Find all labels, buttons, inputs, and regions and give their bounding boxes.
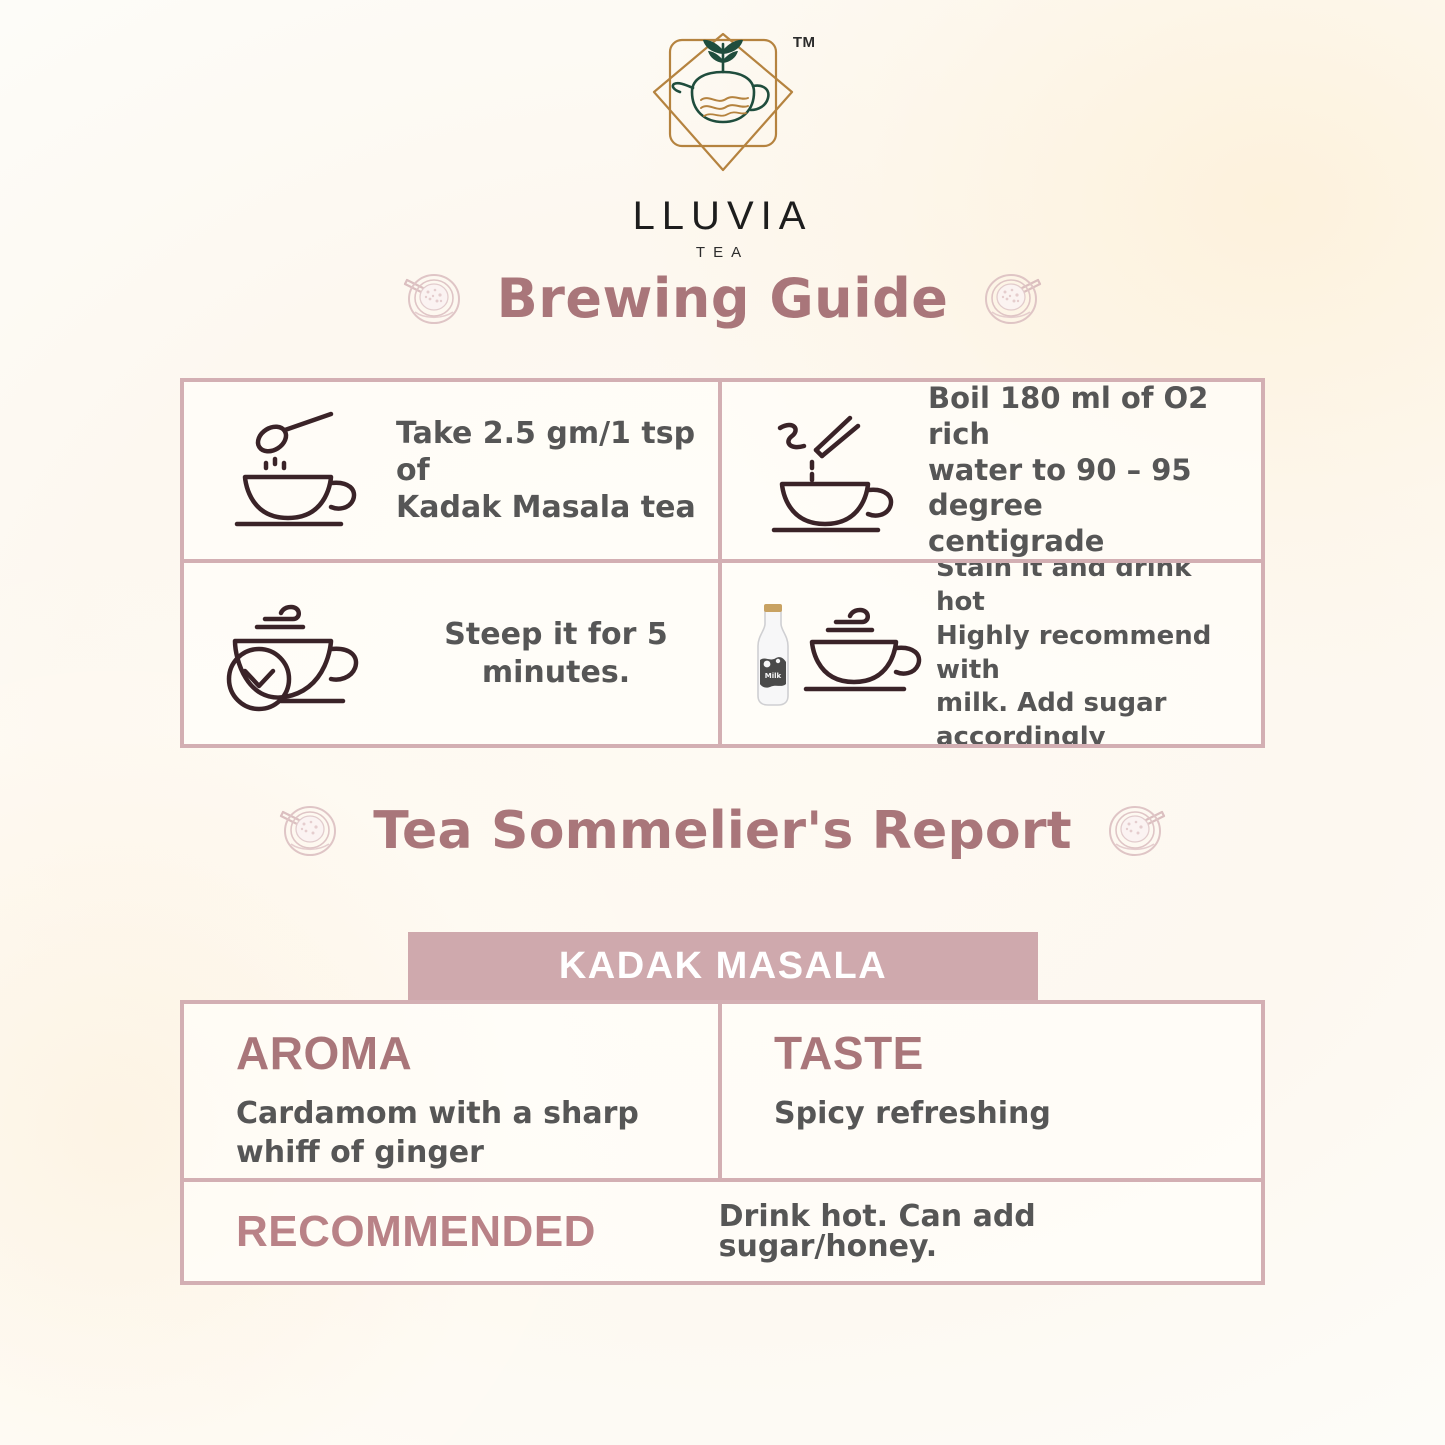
- svg-text:Milk: Milk: [765, 672, 782, 680]
- brand-logo-block: TM LLUVIA TEA: [0, 30, 1445, 260]
- tea-variant-banner: KADAK MASALA: [408, 932, 1038, 1000]
- report-cell-aroma: AROMA Cardamom with a sharp whiff of gin…: [184, 1004, 722, 1182]
- brew-step-boil-text: Boil 180 ml of O2 rich water to 90 – 95 …: [928, 382, 1245, 560]
- brewing-guide-heading-row: Brewing Guide: [0, 268, 1445, 330]
- brewing-steps-grid: Take 2.5 gm/1 tsp of Kadak Masala tea: [180, 378, 1265, 748]
- brew-step-measure-text: Take 2.5 gm/1 tsp of Kadak Masala tea: [396, 415, 702, 527]
- brew-step-steep: Steep it for 5 minutes.: [184, 563, 722, 744]
- trademark-symbol: TM: [793, 34, 816, 51]
- taste-value: Spicy refreshing: [774, 1094, 1261, 1133]
- brew-step-strain: Milk Stain it and drink hot Highly recom…: [722, 563, 1261, 744]
- cup-with-spoon-icon: [214, 406, 384, 536]
- recommended-value: Drink hot. Can add sugar/honey.: [719, 1202, 1261, 1262]
- sommelier-report-grid: AROMA Cardamom with a sharp whiff of gin…: [180, 1000, 1265, 1285]
- brew-step-measure: Take 2.5 gm/1 tsp of Kadak Masala tea: [184, 382, 722, 563]
- sommelier-report-title: Tea Sommelier's Report: [373, 805, 1072, 857]
- brew-step-steep-text: Steep it for 5 minutes.: [410, 616, 702, 690]
- milk-bottle-and-cup-icon: Milk: [748, 598, 928, 710]
- tea-cup-top-view-icon: [1106, 800, 1168, 862]
- brewing-guide-title: Brewing Guide: [497, 272, 949, 326]
- tea-variant-name: KADAK MASALA: [559, 947, 887, 985]
- cup-pouring-steam-icon: [760, 406, 910, 536]
- aroma-value: Cardamom with a sharp whiff of ginger: [236, 1094, 718, 1172]
- tea-cup-top-view-icon: [982, 268, 1044, 330]
- aroma-label: AROMA: [236, 1030, 718, 1076]
- brew-step-strain-text: Stain it and drink hot Highly recommend …: [936, 563, 1245, 744]
- report-row-recommended: RECOMMENDED Drink hot. Can add sugar/hon…: [184, 1182, 1261, 1281]
- brand-subwordmark: TEA: [0, 245, 1445, 260]
- lluvia-logo-mark: TM: [638, 30, 808, 190]
- brew-step-boil: Boil 180 ml of O2 rich water to 90 – 95 …: [722, 382, 1261, 563]
- tea-cup-top-view-icon: [277, 800, 339, 862]
- cup-with-clock-icon: [214, 589, 384, 719]
- milk-bottle-icon: Milk: [752, 598, 794, 710]
- recommended-label: RECOMMENDED: [184, 1210, 719, 1254]
- brand-wordmark: LLUVIA: [0, 196, 1445, 236]
- teapot-sprout-logo-icon: [638, 30, 808, 190]
- brewing-guide-page: TM LLUVIA TEA Brewing Gu: [0, 0, 1445, 1445]
- report-cell-taste: TASTE Spicy refreshing: [722, 1004, 1261, 1182]
- tea-cup-top-view-icon: [401, 268, 463, 330]
- taste-label: TASTE: [774, 1030, 1261, 1076]
- sommelier-report-heading-row: Tea Sommelier's Report: [0, 800, 1445, 862]
